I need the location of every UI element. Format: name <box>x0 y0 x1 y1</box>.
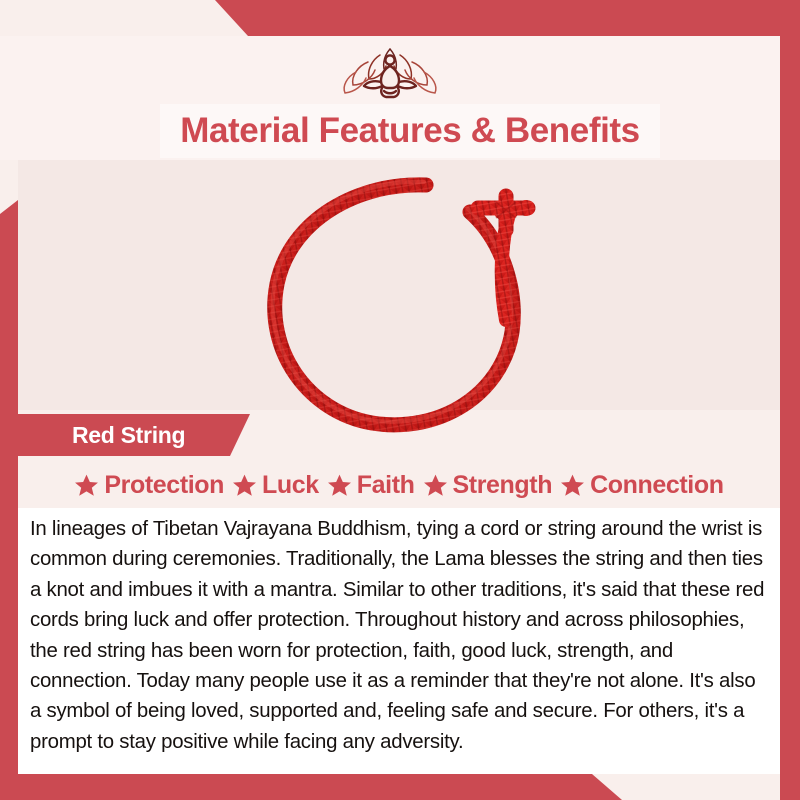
star-icon <box>560 473 585 498</box>
benefit-item: Faith <box>327 471 415 500</box>
page-title: Material Features & Benefits <box>160 104 660 158</box>
left-red-band <box>0 200 18 800</box>
description-text: In lineages of Tibetan Vajrayana Buddhis… <box>30 514 766 757</box>
star-icon <box>423 473 448 498</box>
benefit-label: Connection <box>590 471 724 500</box>
infographic-page: BUDDHA STONES Material Features & Benefi… <box>0 0 800 800</box>
lotus-meditation-figure-icon <box>336 40 444 102</box>
benefit-label: Faith <box>357 471 415 500</box>
benefit-label: Strength <box>453 471 553 500</box>
benefits-row: Protection Luck Faith Strength Connectio… <box>18 464 780 506</box>
benefit-label: Protection <box>104 471 224 500</box>
benefit-label: Luck <box>262 471 319 500</box>
benefit-item: Luck <box>232 471 319 500</box>
benefit-item: Connection <box>560 471 724 500</box>
right-red-band <box>780 0 800 800</box>
description-block: In lineages of Tibetan Vajrayana Buddhis… <box>18 508 780 774</box>
top-red-band <box>0 0 800 36</box>
product-label-text: Red String <box>18 414 230 456</box>
star-icon <box>74 473 99 498</box>
red-string-bracelet-image <box>250 168 580 440</box>
star-icon <box>327 473 352 498</box>
benefit-item: Strength <box>423 471 553 500</box>
bottom-red-band <box>0 774 800 800</box>
benefit-item: Protection <box>74 471 224 500</box>
star-icon <box>232 473 257 498</box>
